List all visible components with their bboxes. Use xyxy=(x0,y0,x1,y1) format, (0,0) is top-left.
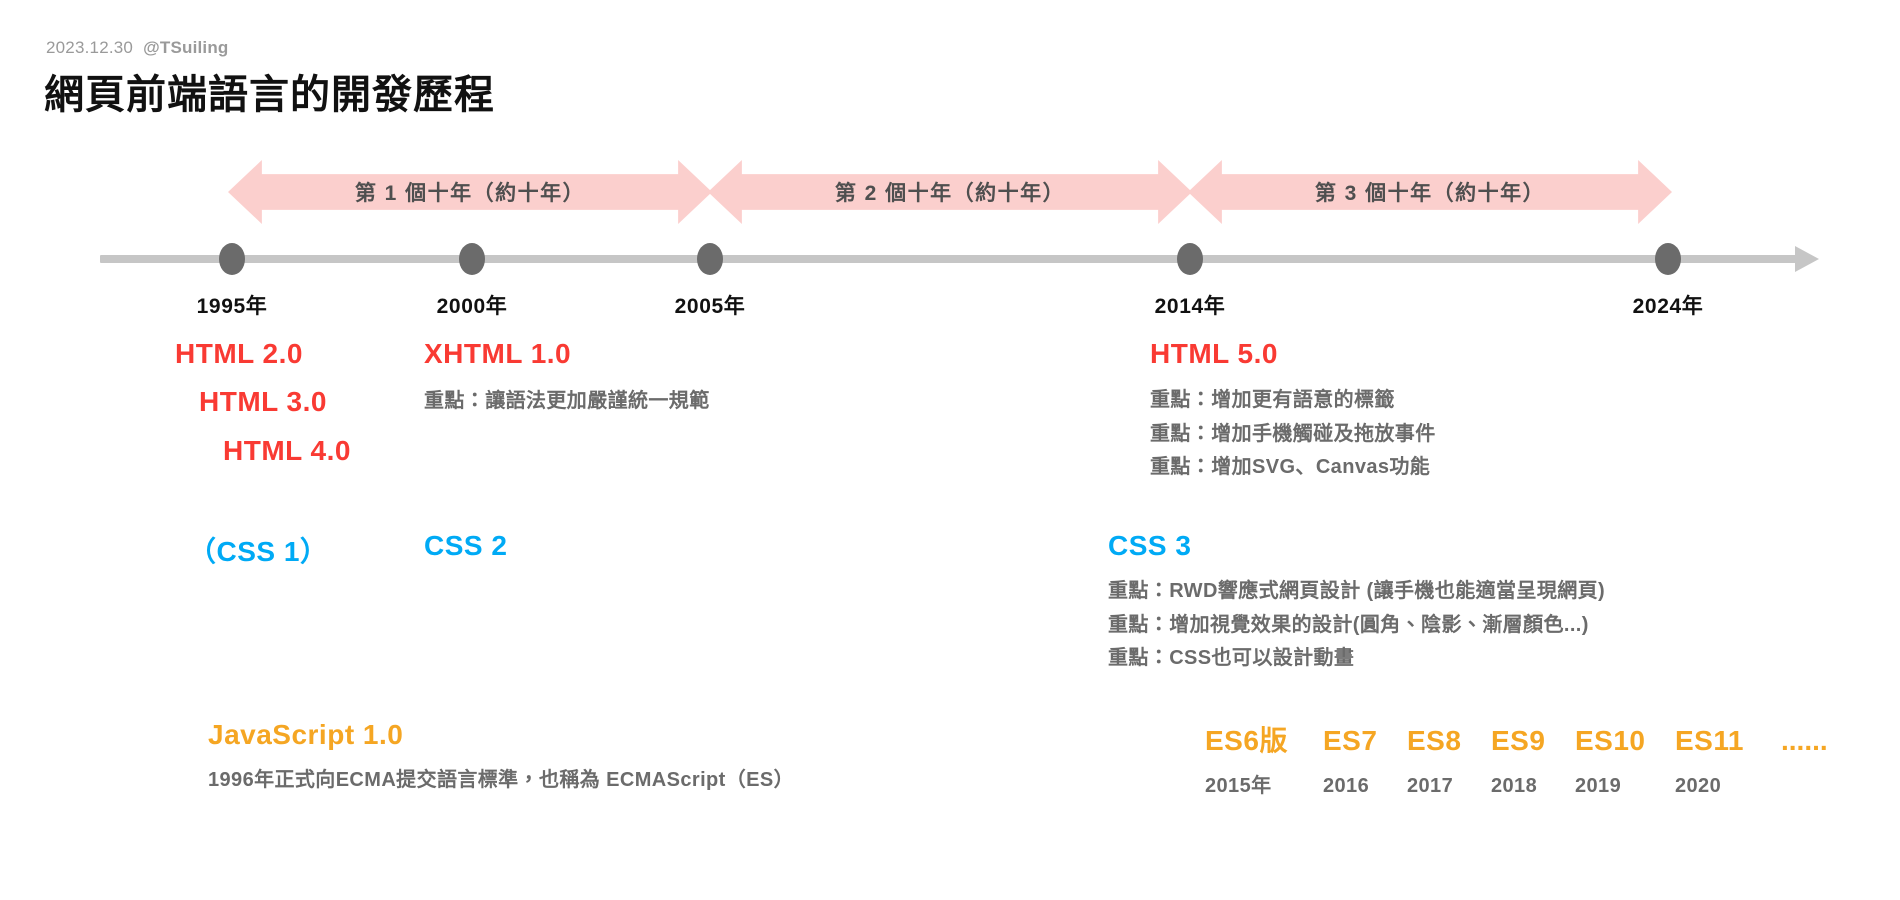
ecmascript-version-list: ES6版 ES7 ES8 ES9 ES10 ES11 ...... xyxy=(1205,719,1828,759)
es-version-label: ES11 xyxy=(1675,725,1781,757)
javascript-title: JavaScript 1.0 xyxy=(208,719,794,751)
axis-dot-2024 xyxy=(1655,243,1681,275)
es-year-label: 2016 xyxy=(1323,775,1407,798)
xhtml-title: XHTML 1.0 xyxy=(424,338,710,370)
axis-dot-2014 xyxy=(1177,243,1203,275)
publish-date: 2023.12.30 xyxy=(46,38,133,57)
html5-detail: 重點：增加手機觸碰及拖放事件 xyxy=(1150,419,1436,451)
html-version-label: HTML 2.0 xyxy=(175,338,303,370)
es-year-label: 2018 xyxy=(1491,775,1575,798)
author-handle: @TSuiling xyxy=(143,38,228,57)
decade-label-3: 第 3 個十年（約十年） xyxy=(1315,177,1545,207)
es-year-label: 2015年 xyxy=(1205,769,1323,798)
timeline-axis: 1995年 2000年 2005年 2014年 2024年 xyxy=(0,240,1900,280)
axis-year-label: 2000年 xyxy=(437,290,508,320)
css2-title: CSS 2 xyxy=(424,530,507,562)
decade-arrow-1: 第 1 個十年（約十年） xyxy=(228,160,712,224)
css3-title: CSS 3 xyxy=(1108,530,1605,562)
html5-block: HTML 5.0 重點：增加更有語意的標籤 重點：增加手機觸碰及拖放事件 重點：… xyxy=(1150,338,1436,484)
axis-year-label: 2005年 xyxy=(675,290,746,320)
ecmascript-year-list: 2015年 2016 2017 2018 2019 2020 xyxy=(1205,769,1828,798)
axis-dot-2005 xyxy=(697,243,723,275)
diagram-canvas: 2023.12.30@TSuiling 網頁前端語言的開發歷程 第 1 個十年（… xyxy=(0,0,1900,900)
css3-detail: 重點：CSS也可以設計動畫 xyxy=(1108,643,1605,675)
axis-arrowhead-icon xyxy=(1795,246,1819,272)
axis-year-label: 1995年 xyxy=(197,290,268,320)
axis-dot-1995 xyxy=(219,243,245,275)
es-ellipsis: ...... xyxy=(1781,725,1828,757)
ecmascript-block: ES6版 ES7 ES8 ES9 ES10 ES11 ...... 2015年 … xyxy=(1205,719,1828,798)
css1-block: （CSS 1） xyxy=(188,530,328,570)
axis-year-label: 2014年 xyxy=(1155,290,1226,320)
es-version-label: ES8 xyxy=(1407,725,1491,757)
es-version-label: ES6版 xyxy=(1205,719,1323,759)
css3-detail: 重點：增加視覺效果的設計(圓角、陰影、漸層顏色...) xyxy=(1108,610,1605,642)
html-version-label: HTML 4.0 xyxy=(223,435,351,467)
html5-detail: 重點：增加更有語意的標籤 xyxy=(1150,385,1436,417)
css3-detail: 重點：RWD響應式網頁設計 (讓手機也能適當呈現網頁) xyxy=(1108,576,1605,608)
byline: 2023.12.30@TSuiling xyxy=(46,38,229,58)
decade-label-2: 第 2 個十年（約十年） xyxy=(835,177,1065,207)
es-version-label: ES10 xyxy=(1575,725,1675,757)
decade-arrow-2: 第 2 個十年（約十年） xyxy=(708,160,1192,224)
axis-line xyxy=(100,255,1800,263)
decade-arrow-3: 第 3 個十年（約十年） xyxy=(1188,160,1672,224)
es-year-label: 2020 xyxy=(1675,775,1781,798)
css2-block: CSS 2 xyxy=(424,530,507,562)
es-version-label: ES9 xyxy=(1491,725,1575,757)
axis-year-label: 2024年 xyxy=(1633,290,1704,320)
es-version-label: ES7 xyxy=(1323,725,1407,757)
es-year-label: 2017 xyxy=(1407,775,1491,798)
page-title: 網頁前端語言的開發歷程 xyxy=(44,62,495,120)
xhtml-detail: 重點：讓語法更加嚴謹統一規範 xyxy=(424,386,710,418)
axis-dot-2000 xyxy=(459,243,485,275)
javascript-block: JavaScript 1.0 1996年正式向ECMA提交語言標準，也稱為 EC… xyxy=(208,719,794,797)
decade-label-1: 第 1 個十年（約十年） xyxy=(355,177,585,207)
css3-block: CSS 3 重點：RWD響應式網頁設計 (讓手機也能適當呈現網頁) 重點：增加視… xyxy=(1108,530,1605,675)
es-year-label: 2019 xyxy=(1575,775,1675,798)
html5-title: HTML 5.0 xyxy=(1150,338,1436,370)
xhtml-block: XHTML 1.0 重點：讓語法更加嚴謹統一規範 xyxy=(424,338,710,418)
html5-detail: 重點：增加SVG、Canvas功能 xyxy=(1150,452,1436,484)
css1-title: （CSS 1） xyxy=(188,530,328,570)
javascript-detail: 1996年正式向ECMA提交語言標準，也稱為 ECMAScript（ES） xyxy=(208,765,794,797)
decade-band: 第 1 個十年（約十年） 第 2 個十年（約十年） 第 3 個十年（約十年） xyxy=(0,160,1900,224)
html-version-label: HTML 3.0 xyxy=(199,386,327,418)
